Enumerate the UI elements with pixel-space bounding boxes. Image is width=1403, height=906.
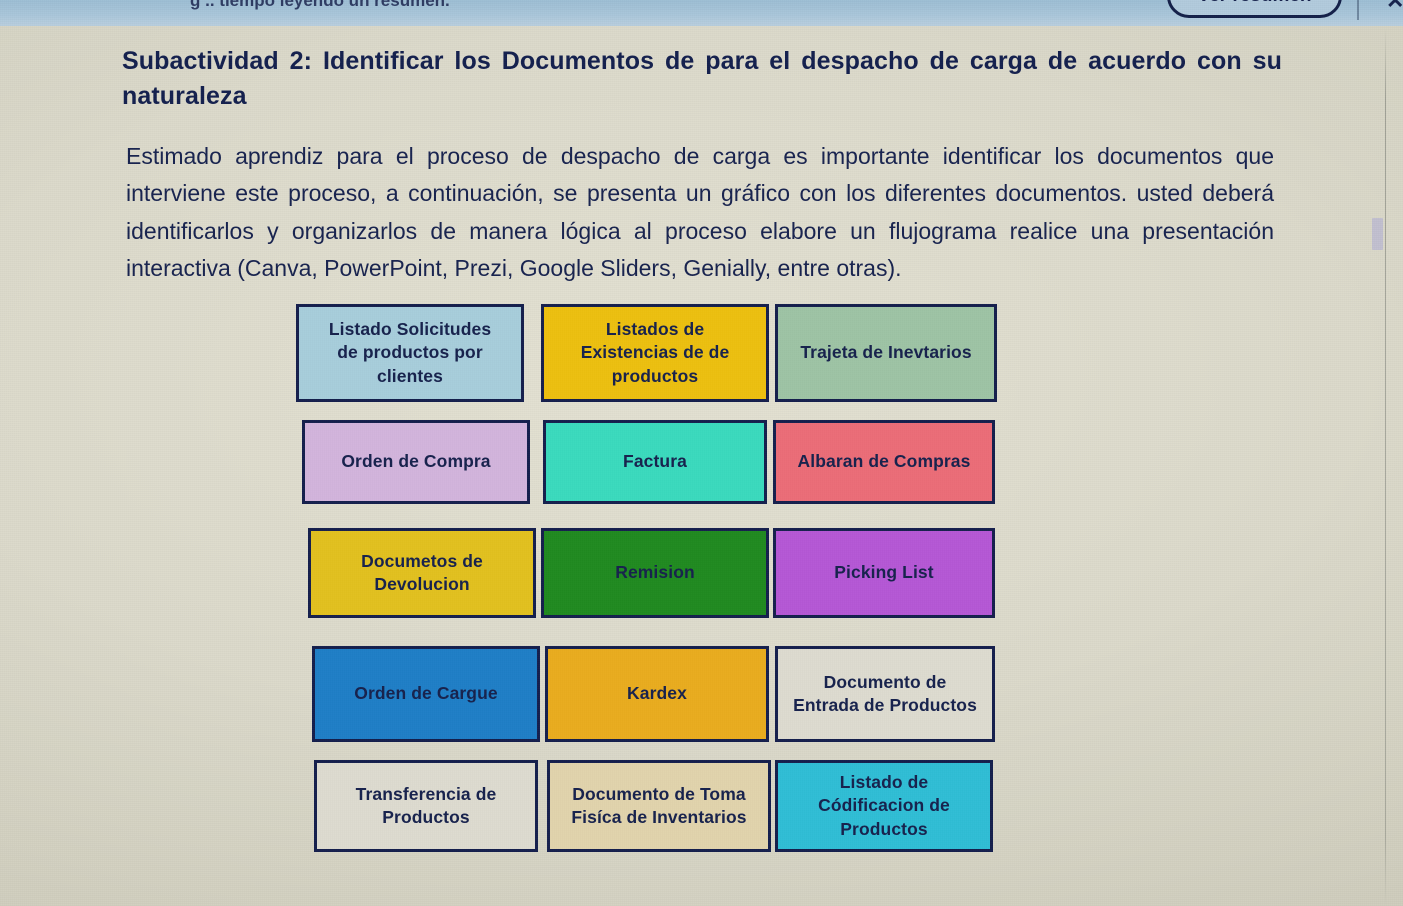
- diagram-box-line: Existencias de de: [581, 341, 730, 364]
- diagram-box-line: Kardex: [627, 682, 687, 705]
- diagram-box-line: clientes: [329, 365, 491, 388]
- diagram-box-line: Listado de: [818, 771, 950, 794]
- top-bar-divider: [1357, 0, 1359, 20]
- diagram-box-label: Picking List: [834, 561, 933, 584]
- diagram-box-label: Documento deEntrada de Productos: [793, 671, 977, 718]
- diagram-box-line: Trajeta de Inevtarios: [800, 341, 971, 364]
- scrollbar-thumb[interactable]: [1372, 218, 1383, 250]
- diagram-box-label: Albaran de Compras: [798, 450, 971, 473]
- close-icon[interactable]: ✕: [1386, 0, 1403, 14]
- diagram-box-documento-entrada: Documento deEntrada de Productos: [775, 646, 995, 742]
- diagram-box-label: Orden de Cargue: [354, 682, 497, 705]
- diagram-box-line: productos: [581, 365, 730, 388]
- diagram-box-label: Orden de Compra: [341, 450, 490, 473]
- diagram-box-line: Listados de: [581, 318, 730, 341]
- diagram-box-line: Factura: [623, 450, 687, 473]
- intro-paragraph: Estimado aprendiz para el proceso de des…: [126, 138, 1274, 287]
- activity-document: Subactividad 2: Identificar los Document…: [0, 26, 1390, 906]
- diagram-box-listados-existencias: Listados deExistencias de deproductos: [541, 304, 769, 402]
- diagram-box-picking-list: Picking List: [773, 528, 995, 618]
- documents-diagram: Listado Solicitudesde productos porclien…: [296, 304, 1006, 874]
- diagram-box-remision: Remision: [541, 528, 769, 618]
- diagram-box-orden-de-cargue: Orden de Cargue: [312, 646, 540, 742]
- page-right-edge: [1385, 28, 1386, 906]
- diagram-box-label: Trajeta de Inevtarios: [800, 341, 971, 364]
- diagram-box-line: Entrada de Productos: [793, 694, 977, 717]
- diagram-box-line: Fisíca de Inventarios: [571, 806, 746, 829]
- diagram-box-line: Transferencia de: [356, 783, 497, 806]
- diagram-box-documetos-devolucion: Documetos deDevolucion: [308, 528, 536, 618]
- diagram-box-line: Orden de Compra: [341, 450, 490, 473]
- diagram-box-label: Listado Solicitudesde productos porclien…: [329, 318, 491, 388]
- diagram-box-line: Documetos de: [361, 550, 483, 573]
- diagram-box-line: Documento de: [793, 671, 977, 694]
- diagram-box-line: Orden de Cargue: [354, 682, 497, 705]
- diagram-box-trajeta-inevtarios: Trajeta de Inevtarios: [775, 304, 997, 402]
- diagram-box-line: Documento de Toma: [571, 783, 746, 806]
- app-top-bar: g .. tiempo leyendo un resumen. Ver resu…: [0, 0, 1403, 26]
- diagram-box-label: Listado deCódificacion deProductos: [818, 771, 950, 841]
- diagram-box-line: Listado Solicitudes: [329, 318, 491, 341]
- diagram-box-orden-de-compra: Orden de Compra: [302, 420, 530, 504]
- diagram-box-listado-codificacion: Listado deCódificacion deProductos: [775, 760, 993, 852]
- diagram-box-line: Albaran de Compras: [798, 450, 971, 473]
- diagram-box-factura: Factura: [543, 420, 767, 504]
- diagram-box-kardex: Kardex: [545, 646, 769, 742]
- diagram-box-label: Documento de TomaFisíca de Inventarios: [571, 783, 746, 830]
- diagram-box-label: Factura: [623, 450, 687, 473]
- diagram-box-line: Productos: [356, 806, 497, 829]
- diagram-box-label: Listados deExistencias de deproductos: [581, 318, 730, 388]
- diagram-box-label: Kardex: [627, 682, 687, 705]
- diagram-box-label: Remision: [615, 561, 695, 584]
- diagram-box-line: Picking List: [834, 561, 933, 584]
- diagram-box-line: Remision: [615, 561, 695, 584]
- page-title: Subactividad 2: Identificar los Document…: [122, 44, 1282, 114]
- diagram-box-line: Productos: [818, 818, 950, 841]
- diagram-box-toma-fisica: Documento de TomaFisíca de Inventarios: [547, 760, 771, 852]
- ver-resumen-button[interactable]: Ver resumen: [1167, 0, 1342, 18]
- diagram-box-line: Códificacion de: [818, 794, 950, 817]
- diagram-box-label: Transferencia deProductos: [356, 783, 497, 830]
- diagram-box-listado-solicitudes: Listado Solicitudesde productos porclien…: [296, 304, 524, 402]
- diagram-box-albaran-de-compras: Albaran de Compras: [773, 420, 995, 504]
- top-bar-cut-text: g .. tiempo leyendo un resumen.: [190, 0, 810, 11]
- diagram-box-line: de productos por: [329, 341, 491, 364]
- diagram-box-transferencia: Transferencia deProductos: [314, 760, 538, 852]
- diagram-box-line: Devolucion: [361, 573, 483, 596]
- diagram-box-label: Documetos deDevolucion: [361, 550, 483, 597]
